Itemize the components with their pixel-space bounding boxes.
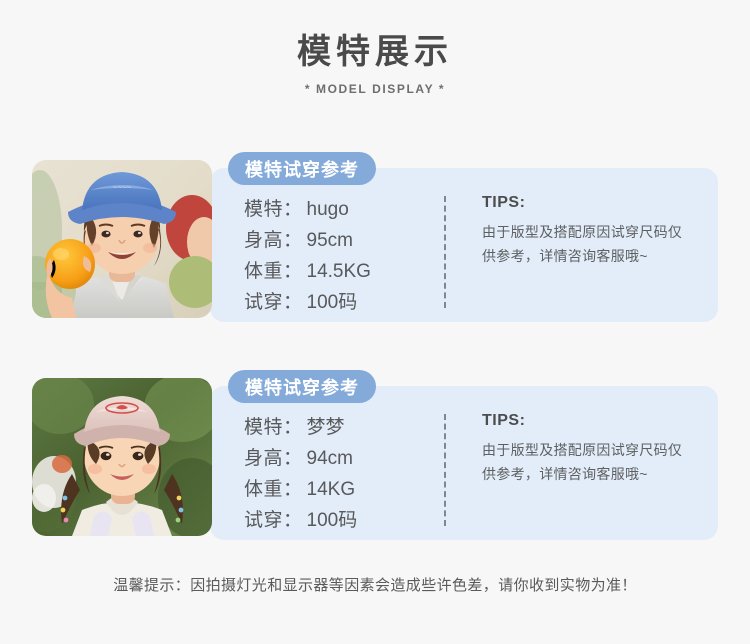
tips-title: TIPS: <box>482 194 694 212</box>
spec-label: 试穿： <box>244 505 303 532</box>
tips-body: 由于版型及搭配原因试穿尺码仅供参考，详情咨询客服哦~ <box>482 220 694 268</box>
spec-value: 94cm <box>307 448 353 470</box>
spec-row: 模特： hugo <box>244 194 434 225</box>
spec-value: hugo <box>307 199 349 221</box>
spec-label: 身高： <box>244 443 303 470</box>
vertical-dashed-divider <box>444 196 446 308</box>
spec-value: 100码 <box>307 287 358 314</box>
model-photo-image: ~~~~ <box>32 160 212 318</box>
spec-label: 身高： <box>244 225 303 252</box>
model-display-page: 模特展示 * MODEL DISPLAY * <box>0 0 750 644</box>
spec-value: 100码 <box>307 505 358 532</box>
tips-block: TIPS: 由于版型及搭配原因试穿尺码仅供参考，详情咨询客服哦~ <box>482 412 694 486</box>
spec-label: 体重： <box>244 256 303 283</box>
model-badge: 模特试穿参考 <box>228 152 376 185</box>
tips-title: TIPS: <box>482 412 694 430</box>
spec-row: 试穿： 100码 <box>244 287 434 318</box>
spec-row: 模特： 梦梦 <box>244 412 434 443</box>
tips-body: 由于版型及搭配原因试穿尺码仅供参考，详情咨询客服哦~ <box>482 438 694 486</box>
model-card: 模特试穿参考 模特： 梦梦 身高： 94cm 体重： 14KG 试穿： 100码… <box>0 370 750 545</box>
spec-row: 身高： 94cm <box>244 443 434 474</box>
footer-note: 温馨提示：因拍摄灯光和显示器等因素会造成些许色差，请你收到实物为准！ <box>0 574 750 595</box>
spec-row: 试穿： 100码 <box>244 505 434 536</box>
model-specs: 模特： hugo 身高： 95cm 体重： 14.5KG 试穿： 100码 <box>244 194 434 318</box>
vertical-dashed-divider <box>444 414 446 526</box>
spec-value: 95cm <box>307 230 353 252</box>
model-badge-label: 模特试穿参考 <box>245 156 359 182</box>
spec-value: 14.5KG <box>307 261 371 283</box>
page-subtitle: * MODEL DISPLAY * <box>0 82 750 96</box>
model-photo <box>32 378 212 536</box>
model-photo: ~~~~ <box>32 160 212 318</box>
model-badge-label: 模特试穿参考 <box>245 374 359 400</box>
model-photo-image <box>32 378 212 536</box>
page-title: 模特展示 <box>0 30 750 74</box>
model-badge: 模特试穿参考 <box>228 370 376 403</box>
spec-label: 体重： <box>244 474 303 501</box>
model-specs: 模特： 梦梦 身高： 94cm 体重： 14KG 试穿： 100码 <box>244 412 434 536</box>
page-header: 模特展示 * MODEL DISPLAY * <box>0 30 750 96</box>
tips-block: TIPS: 由于版型及搭配原因试穿尺码仅供参考，详情咨询客服哦~ <box>482 194 694 268</box>
spec-label: 模特： <box>244 412 303 439</box>
model-card: ~~~~ <box>0 152 750 327</box>
spec-row: 身高： 95cm <box>244 225 434 256</box>
svg-text:~~~~: ~~~~ <box>113 183 132 192</box>
spec-row: 体重： 14KG <box>244 474 434 505</box>
spec-label: 模特： <box>244 194 303 221</box>
spec-label: 试穿： <box>244 287 303 314</box>
spec-row: 体重： 14.5KG <box>244 256 434 287</box>
spec-value: 梦梦 <box>307 412 345 439</box>
spec-value: 14KG <box>307 479 356 501</box>
